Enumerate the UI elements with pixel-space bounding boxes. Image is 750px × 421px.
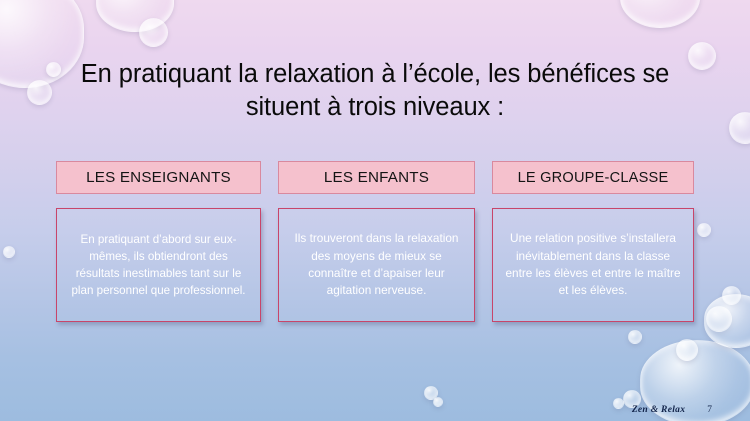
benefit-column-children: LES ENFANTS Ils trouveront dans la relax… [278, 161, 475, 331]
footer-brand: Zen & Relax [632, 405, 685, 415]
page-title: En pratiquant la relaxation à l’école, l… [45, 58, 705, 123]
bubble-icon [706, 306, 732, 332]
bubble-icon [3, 246, 15, 258]
bubble-icon [676, 339, 698, 361]
bubble-icon [620, 0, 700, 28]
bubble-icon [729, 112, 750, 144]
benefit-body-class-group: Une relation positive s’installera inévi… [492, 208, 694, 322]
bubble-icon [613, 398, 624, 409]
benefits-columns: LES ENSEIGNANTS En pratiquant d’abord su… [56, 161, 694, 331]
footer-page-number: 7 [707, 405, 712, 415]
benefit-body-children: Ils trouveront dans la relaxation des mo… [278, 208, 475, 322]
benefit-header-children: LES ENFANTS [278, 161, 475, 194]
bubble-icon [433, 397, 443, 407]
slide-footer: Zen & Relax 7 [632, 405, 712, 415]
bubble-icon [424, 386, 438, 400]
benefit-header-teachers: LES ENSEIGNANTS [56, 161, 261, 194]
bubble-icon [628, 330, 642, 344]
bubble-icon [704, 294, 750, 348]
slide-canvas: En pratiquant la relaxation à l’école, l… [0, 0, 750, 421]
bubble-icon [96, 0, 174, 32]
benefit-column-class-group: LE GROUPE-CLASSE Une relation positive s… [492, 161, 694, 331]
bubble-icon [722, 286, 741, 305]
benefit-header-class-group: LE GROUPE-CLASSE [492, 161, 694, 194]
benefit-body-teachers: En pratiquant d’abord sur eux-mêmes, ils… [56, 208, 261, 322]
bubble-icon [139, 18, 168, 47]
bubble-icon [697, 223, 711, 237]
benefit-column-teachers: LES ENSEIGNANTS En pratiquant d’abord su… [56, 161, 261, 331]
